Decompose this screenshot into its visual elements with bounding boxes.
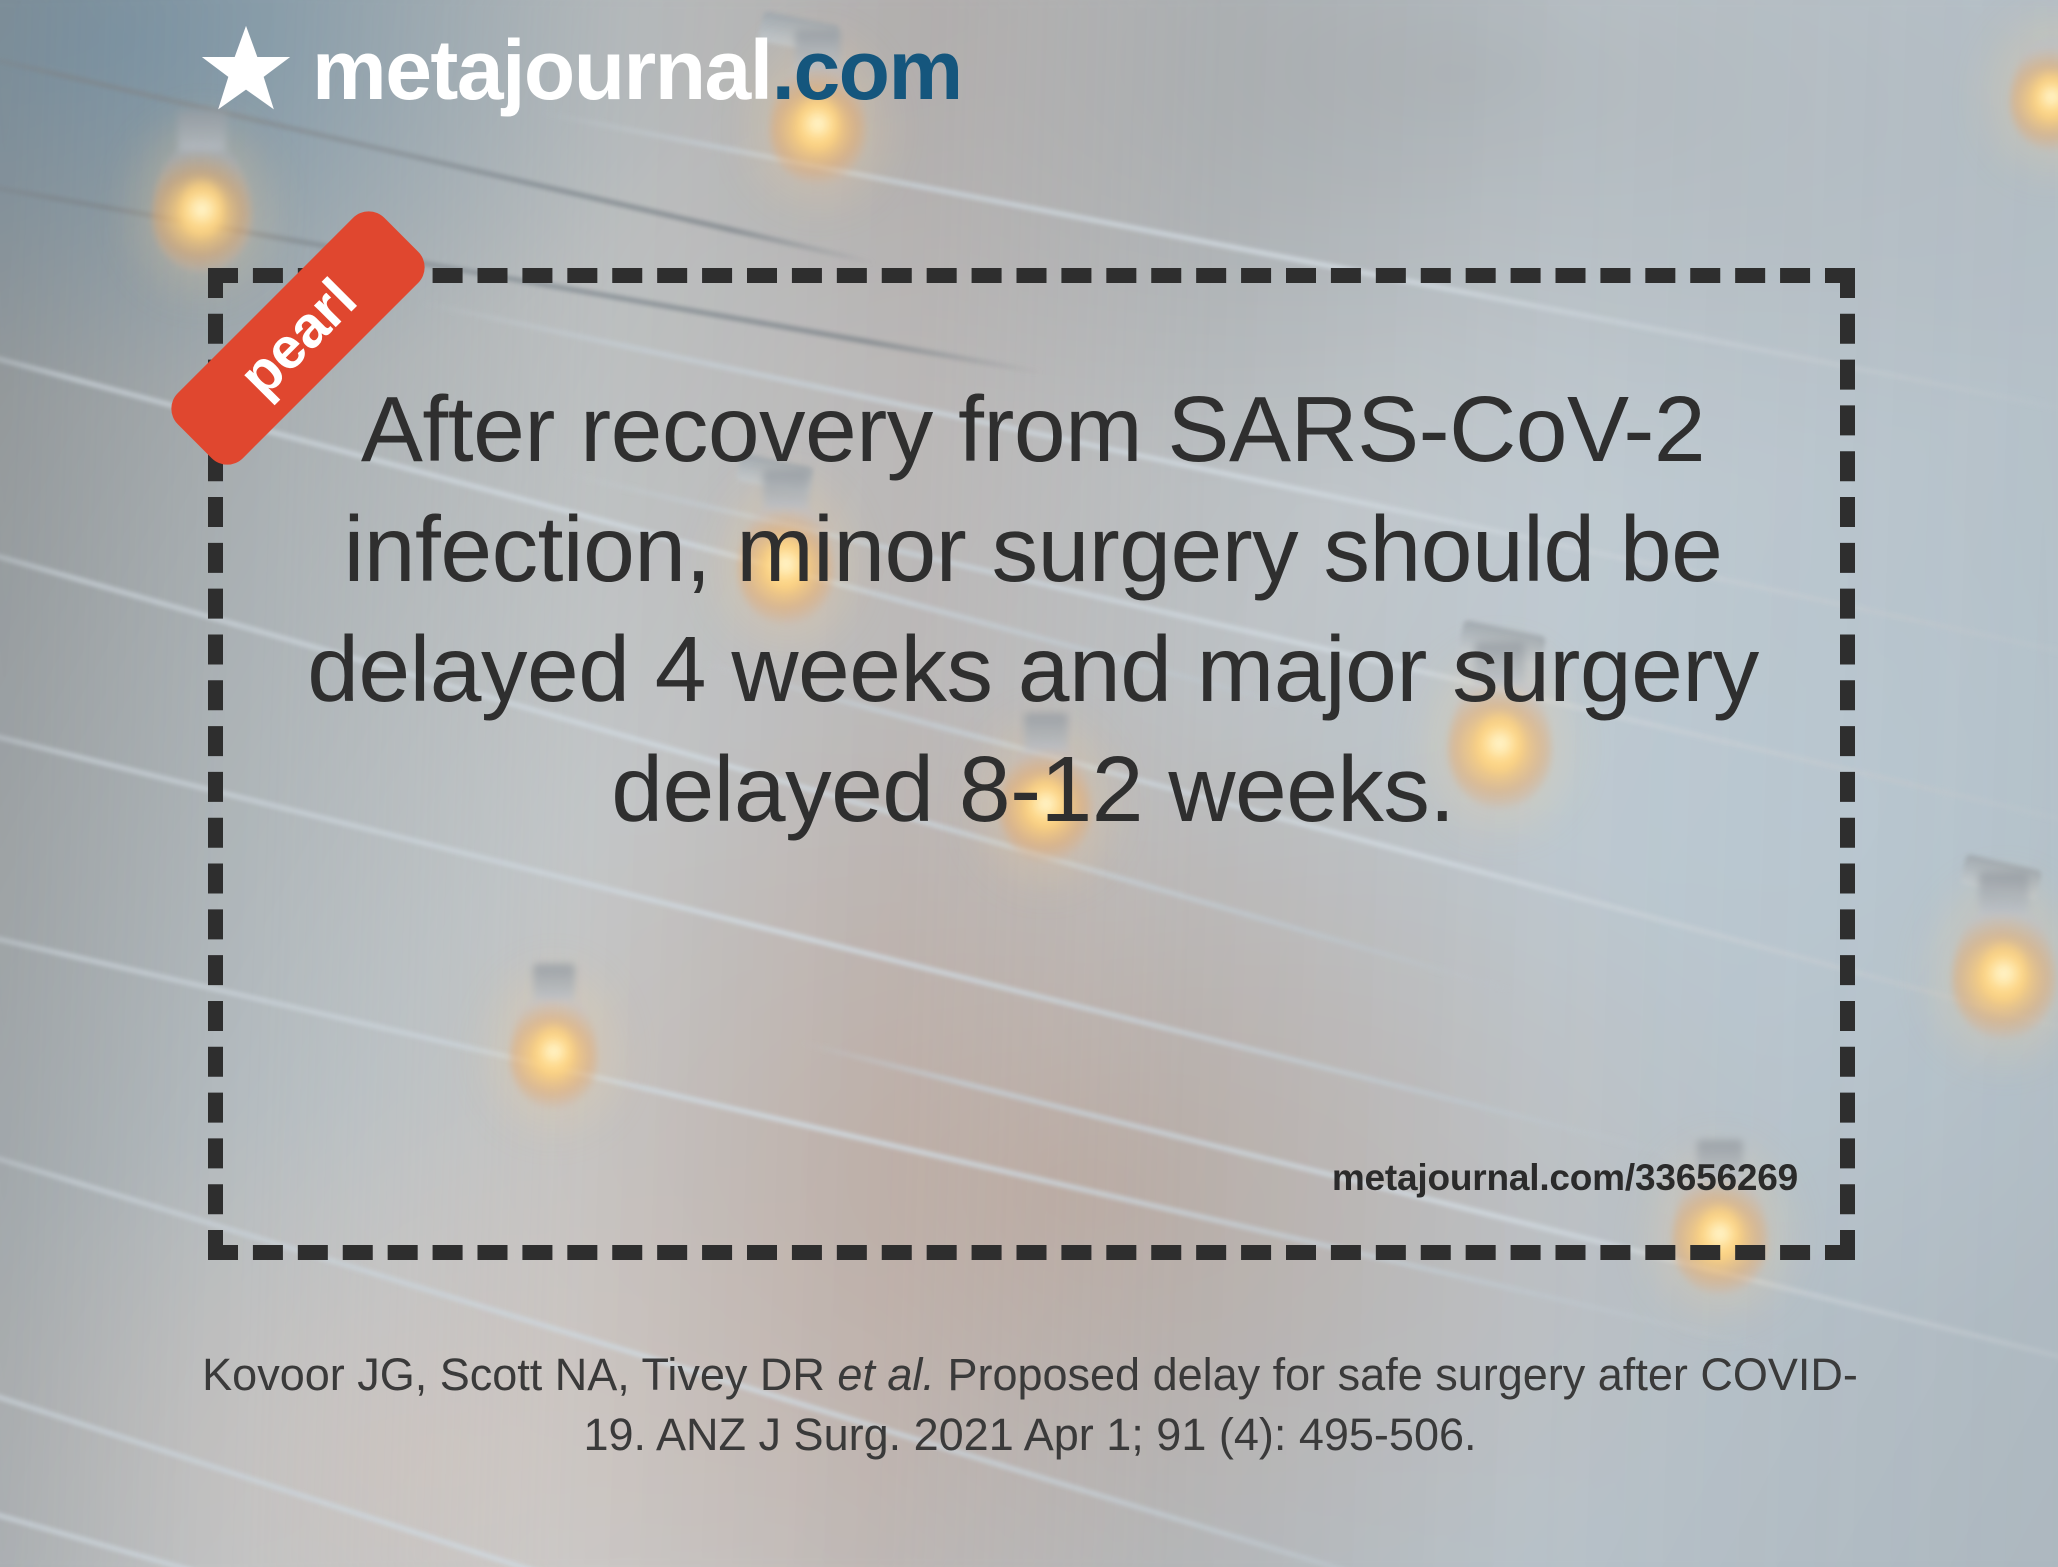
logo-wordmark: metajournal.com bbox=[312, 28, 962, 112]
bulb-filament bbox=[180, 180, 224, 238]
citation: Kovoor JG, Scott NA, Tivey DR et al. Pro… bbox=[195, 1345, 1865, 1465]
citation-authors: Kovoor JG, Scott NA, Tivey DR bbox=[202, 1349, 825, 1400]
logo-name: metajournal bbox=[312, 23, 772, 117]
site-logo[interactable]: metajournal.com bbox=[198, 22, 962, 118]
citation-et-al: et al. bbox=[837, 1349, 935, 1400]
bulb-filament bbox=[1981, 943, 2027, 1003]
logo-tld: .com bbox=[772, 23, 962, 117]
star-icon bbox=[198, 22, 294, 118]
bulb-cap bbox=[1979, 872, 2029, 913]
quote-source-url[interactable]: metajournal.com/33656269 bbox=[1332, 1157, 1798, 1199]
bulb-filament bbox=[2034, 72, 2058, 121]
quote-text: After recovery from SARS-CoV-2 infection… bbox=[258, 370, 1808, 850]
pearl-quote-card: metajournal.com After recovery from SARS… bbox=[0, 0, 2058, 1567]
